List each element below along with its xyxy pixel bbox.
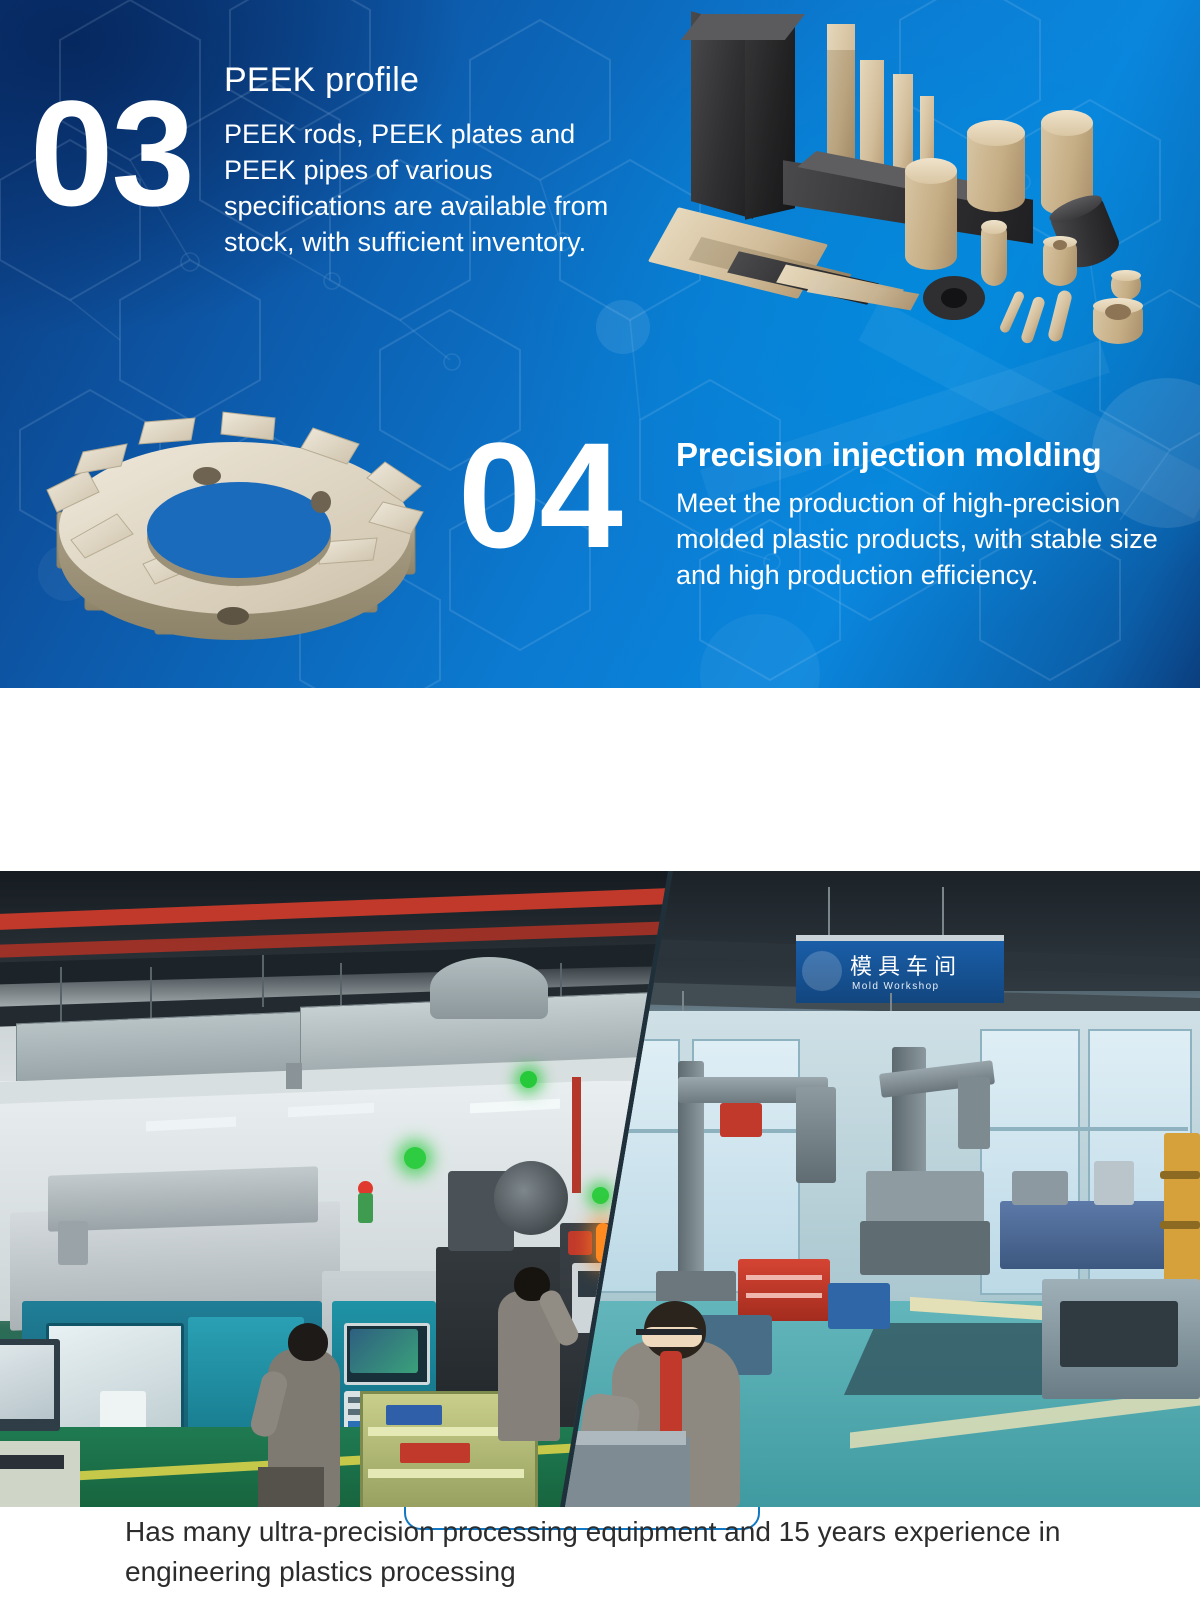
section-03-text: PEEK profile PEEK rods, PEEK plates and … — [224, 62, 654, 261]
section-03-body: PEEK rods, PEEK plates and PEEK pipes of… — [224, 117, 654, 261]
mold-workshop-sign-en: Mold Workshop — [852, 981, 940, 992]
decorative-circle — [596, 300, 650, 354]
mold-workshop-sign: 模具车间 Mold Workshop — [796, 935, 1004, 1003]
mold-workshop-sign-cn: 模具车间 — [850, 949, 962, 981]
section-number-04: 04 — [458, 420, 621, 570]
section-03-title: PEEK profile — [224, 62, 654, 99]
section-04-title: Precision injection molding — [676, 437, 1162, 473]
factory-photo-gallery: 模具车间 Mold Workshop — [0, 871, 1200, 1507]
photo-mold-workshop: 模具车间 Mold Workshop — [560, 871, 1200, 1507]
gallery-caption: Has many ultra-precision processing equi… — [125, 1512, 1105, 1592]
photo-cnc-workshop — [0, 871, 668, 1507]
precision-molding-product-image — [40, 390, 430, 665]
our-strengths-band: Our strengths — [0, 688, 1200, 870]
section-number-03: 03 — [30, 78, 193, 228]
section-04-text: Precision injection molding Meet the pro… — [676, 437, 1162, 594]
peek-profile-product-image — [655, 8, 1185, 353]
hero-panel: 03 PEEK profile PEEK rods, PEEK plates a… — [0, 0, 1200, 688]
section-04-body: Meet the production of high-precision mo… — [676, 486, 1162, 594]
